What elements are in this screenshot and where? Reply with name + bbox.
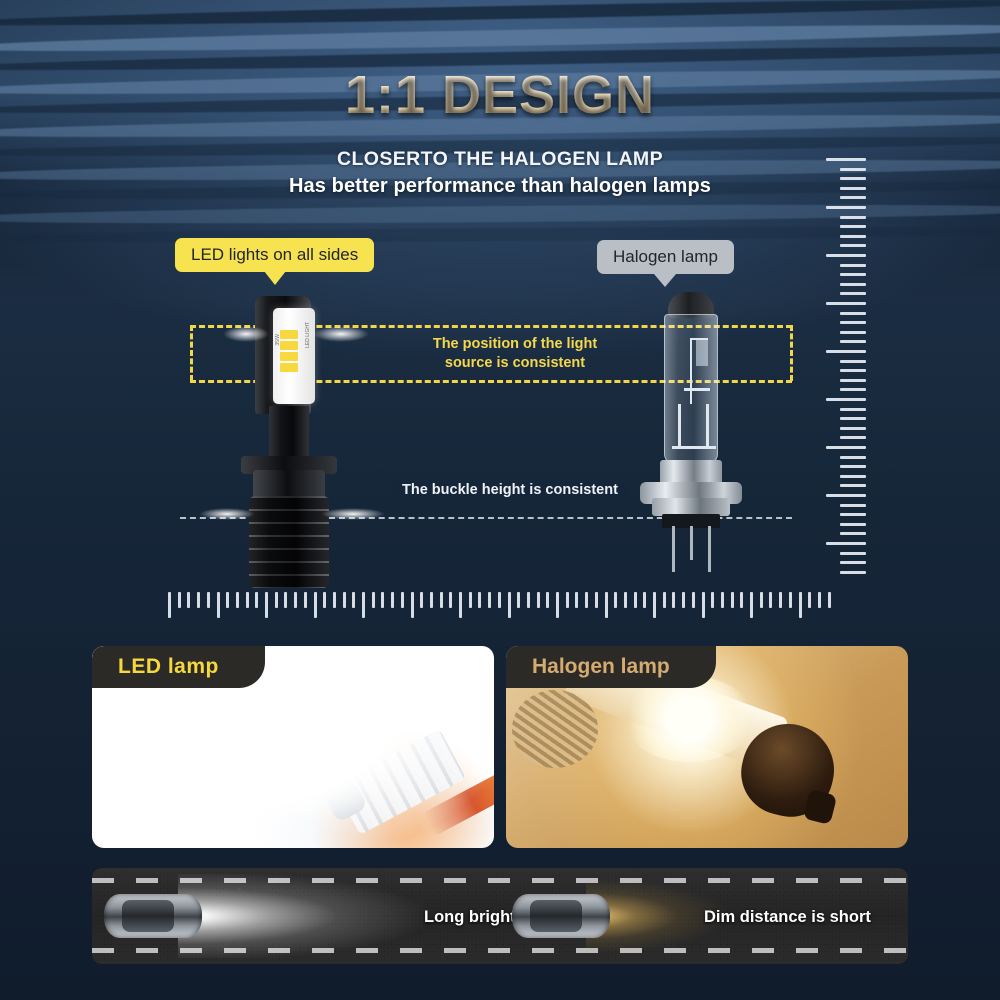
ruler-tick [469,592,472,608]
ruler-tick [840,417,866,420]
ruler-tick [178,592,181,608]
ruler-tick [672,592,675,608]
ruler-tick [840,436,866,439]
halogen-filament-base [672,446,716,449]
callout-halogen-lamp: Halogen lamp [597,240,734,274]
ruler-tick [826,446,866,449]
halogen-pin-center [690,526,693,560]
ruler-tick [168,592,171,618]
ruler-tick [840,177,866,180]
callout-led-lights: LED lights on all sides [175,238,374,272]
page-title: 1:1 DESIGN [0,64,1000,126]
ruler-tick [508,592,511,618]
led-bulb-illustration: 35/W LED LIGHT [217,296,377,606]
ruler-tick [585,592,588,608]
ruler-tick [840,225,866,228]
ruler-tick [595,592,598,608]
ruler-tick [826,206,866,209]
ruler-tick [721,592,724,608]
ruler-tick [197,592,200,608]
ruler-tick [575,592,578,608]
ruler-tick [840,388,866,391]
ruler-tick [826,398,866,401]
ruler-tick [840,484,866,487]
halogen-filament-coil2 [678,404,681,448]
ruler-tick [682,592,685,608]
ruler-tick [840,465,866,468]
halogen-beam-label: Dim distance is short [704,908,871,927]
ruler-tick [826,302,866,305]
ruler-tick [750,592,753,618]
halogen-photo-cap-stem [803,789,837,825]
ruler-tick [566,592,569,608]
halogen-lamp-card-tab: Halogen lamp [506,646,716,688]
light-source-guide-left [190,325,193,381]
ruler-tick [634,592,637,608]
ruler-tick [605,592,608,618]
ruler-tick [826,158,866,161]
ruler-tick [840,283,866,286]
halogen-pin-left [672,526,675,572]
ruler-tick [840,264,866,267]
ruler-tick [779,592,782,608]
buckle-height-note: The buckle height is consistent [393,482,627,498]
ruler-tick [760,592,763,608]
ruler-tick [840,292,866,295]
ruler-tick [187,592,190,608]
ruler-tick [840,427,866,430]
halogen-bulb-illustration [622,292,762,592]
led-lamp-card-label: LED lamp [118,655,219,679]
ruler-tick [840,504,866,507]
halogen-filament-coil3 [706,404,709,448]
led-glint-left [199,508,255,520]
ruler-tick [546,592,549,608]
ruler-tick [488,592,491,608]
ruler-tick [840,523,866,526]
led-pcb-text-right: LED LIGHT [305,322,311,348]
halogen-lamp-photo-card: Halogen lamp [506,646,908,848]
ruler-tick [840,321,866,324]
ruler-tick [840,168,866,171]
halogen-filament-stem [690,338,692,404]
ruler-tick [498,592,501,608]
led-lamp-card-tab: LED lamp [92,646,265,688]
ruler-tick [769,592,772,608]
light-source-note: The position of the light source is cons… [400,335,630,373]
ruler-tick [517,592,520,608]
halogen-photo-coil [512,690,598,768]
led-pcb-text-left: 35/W [275,334,281,346]
led-bulb-chips [279,330,299,370]
halogen-filament-coil [684,388,710,391]
ruler-tick [459,592,462,618]
ruler-tick [711,592,714,608]
ruler-tick [828,592,831,608]
ruler-tick [624,592,627,608]
led-glint-top-right [313,326,369,342]
ruler-tick [840,216,866,219]
ruler-tick [789,592,792,608]
ruler-tick [840,244,866,247]
ruler-tick [643,592,646,608]
ruler-tick [440,592,443,608]
ruler-tick [614,592,617,608]
ruler-tick [740,592,743,608]
ruler-tick [653,592,656,618]
ruler-tick [840,196,866,199]
led-glint-right [321,508,385,520]
callout-halogen-label: Halogen lamp [613,247,718,266]
led-bulb-tip [269,584,309,602]
ruler-tick [840,552,866,555]
ruler-tick [537,592,540,608]
ruler-tick [411,592,414,618]
light-source-note-line2: source is consistent [400,354,630,373]
led-glint-top-left [223,326,269,342]
light-source-note-line1: The position of the light [400,335,630,354]
ruler-tick [478,592,481,608]
ruler-tick [449,592,452,608]
beam-comparison-strip: Long bright distance Dim distance is sho… [92,868,908,964]
ruler-tick [420,592,423,608]
ruler-tick [840,456,866,459]
light-source-guide-right [790,325,793,381]
halogen-photo-hotspot [624,676,754,762]
ruler-tick [381,592,384,608]
ruler-tick [840,379,866,382]
ruler-tick [840,571,866,574]
ruler-tick [401,592,404,608]
ruler-tick [702,592,705,618]
vertical-ruler [820,158,866,582]
ruler-tick [826,350,866,353]
ruler-tick [840,235,866,238]
infographic-canvas: 1:1 DESIGN CLOSERTO THE HALOGEN LAMP Has… [0,0,1000,1000]
ruler-tick [840,532,866,535]
ruler-tick [840,331,866,334]
ruler-tick [663,592,666,608]
ruler-tick [799,592,802,618]
ruler-tick [840,475,866,478]
ruler-tick [840,513,866,516]
halogen-car-cabin [530,900,582,932]
ruler-tick [826,494,866,497]
ruler-tick [826,542,866,545]
ruler-tick [840,312,866,315]
halogen-pin-right [708,526,711,572]
ruler-tick [731,592,734,608]
led-lamp-photo-card: LED lamp [92,646,494,848]
led-beam-cone [178,874,428,958]
ruler-tick [391,592,394,608]
ruler-tick [840,369,866,372]
ruler-tick [207,592,210,608]
ruler-tick [840,187,866,190]
ruler-tick [818,592,821,608]
ruler-tick [808,592,811,608]
led-bulb-ribbed-body [249,496,329,588]
ruler-tick [556,592,559,618]
ruler-tick [826,254,866,257]
callout-led-label: LED lights on all sides [191,245,358,264]
ruler-tick [840,408,866,411]
ruler-tick [840,340,866,343]
ruler-tick [692,592,695,608]
ruler-tick [840,561,866,564]
ruler-tick [430,592,433,608]
ruler-tick [840,360,866,363]
ruler-tick [527,592,530,608]
led-car-cabin [122,900,174,932]
halogen-lamp-card-label: Halogen lamp [532,655,670,679]
halogen-filament-shield [696,340,708,366]
ruler-tick [840,273,866,276]
